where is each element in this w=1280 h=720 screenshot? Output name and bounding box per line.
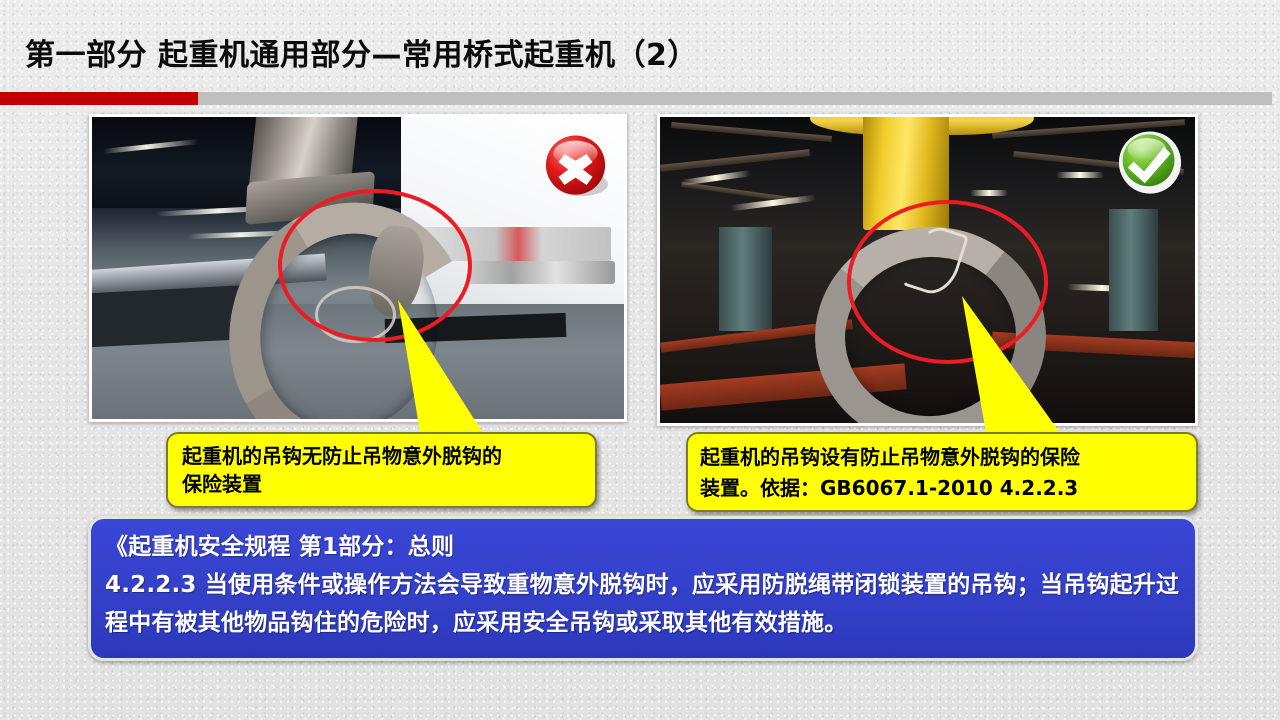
regulation-quote-box: 《起重机安全规程 第1部分：总则 4.2.2.3 当使用条件或操作方法会导致重物… [88, 516, 1198, 661]
workshop-dark-block [92, 285, 252, 348]
callout-left-text: 起重机的吊钩无防止吊物意外脱钩的 保险装置 [182, 442, 587, 498]
mill-truss [660, 149, 810, 172]
page-title: 第一部分 起重机通用部分—常用桥式起重机（2） [25, 30, 698, 74]
callout-right-text: 起重机的吊钩设有防止吊物意外脱钩的保险 装置。依据：GB6067.1-2010 … [700, 442, 1190, 504]
callout-arrow-left [330, 294, 530, 444]
callout-arrow-right [890, 292, 1110, 444]
title-rule-red [0, 92, 198, 105]
mill-lamp [970, 190, 1007, 196]
correct-badge-icon [1113, 127, 1187, 201]
mill-truss [671, 122, 831, 142]
callout-left-incorrect: 起重机的吊钩无防止吊物意外脱钩的 保险装置 [166, 432, 597, 508]
wrong-badge-icon [540, 131, 614, 205]
mill-lamp [1056, 172, 1104, 178]
mill-lamp [681, 170, 751, 186]
slide-canvas: 第一部分 起重机通用部分—常用桥式起重机（2） [0, 0, 1280, 720]
callout-right-correct: 起重机的吊钩设有防止吊物意外脱钩的保险 装置。依据：GB6067.1-2010 … [686, 432, 1198, 512]
regulation-quote-text: 《起重机安全规程 第1部分：总则 4.2.2.3 当使用条件或操作方法会导致重物… [105, 528, 1185, 642]
mill-column [1109, 209, 1157, 331]
mill-column [719, 227, 773, 331]
title-bar: 第一部分 起重机通用部分—常用桥式起重机（2） [0, 0, 1280, 96]
